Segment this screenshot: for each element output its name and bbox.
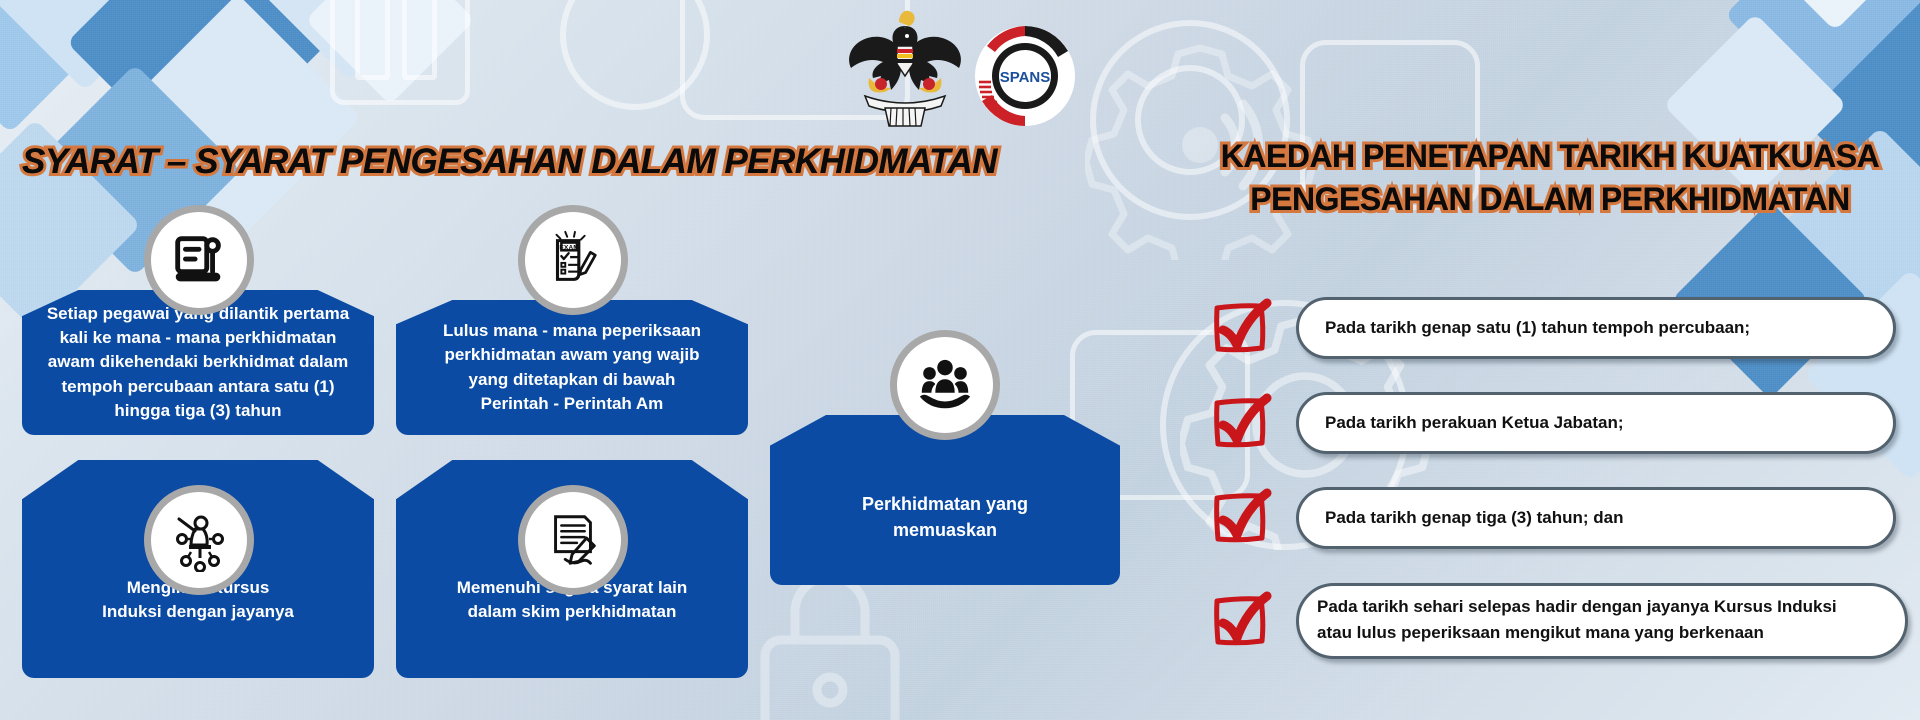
spans-logo-caption: SPANS (1000, 69, 1051, 86)
condition-1-line-2: kali ke mana - mana perkhidmatan (47, 326, 349, 350)
condition-2-line-3: yang ditetapkan di bawah (443, 368, 701, 392)
page-title-left: SYARAT – SYARAT PENGESAHAN DALAM PERKHID… (22, 140, 997, 184)
condition-card-2: Lulus mana - mana peperiksaan perkhidmat… (396, 300, 748, 435)
condition-5-line-2: memuaskan (862, 518, 1028, 544)
method-1-pill: Pada tarikh genap satu (1) tahun tempoh … (1296, 297, 1896, 359)
condition-2-line-4: Perintah - Perintah Am (443, 392, 701, 416)
sarawak-coat-of-arms (845, 6, 965, 131)
method-4-line-2: atau lulus peperiksaan mengikut mana yan… (1317, 620, 1887, 646)
method-4-line-1: Pada tarikh sehari selepas hadir dengan … (1317, 594, 1887, 620)
method-row-1: Pada tarikh genap satu (1) tahun tempoh … (1208, 296, 1898, 360)
condition-2-line-1: Lulus mana - mana peperiksaan (443, 319, 701, 343)
condition-1-line-5: hingga tiga (3) tahun (47, 399, 349, 423)
method-row-3: Pada tarikh genap tiga (3) tahun; dan (1208, 486, 1898, 550)
red-check-icon (1208, 589, 1272, 653)
decor-ghost-shape (402, 0, 437, 80)
method-2-checkbox[interactable] (1208, 391, 1272, 455)
condition-3-line-2: Induksi dengan jayanya (102, 600, 294, 624)
decor-diamond (1725, 0, 1920, 135)
red-check-icon (1208, 296, 1272, 360)
method-3-checkbox[interactable] (1208, 486, 1272, 550)
signed-document-icon (542, 509, 604, 571)
condition-2-line-2: perkhidmatan awam yang wajib (443, 343, 701, 367)
method-3-text: Pada tarikh genap tiga (3) tahun; dan (1325, 505, 1623, 531)
condition-1-icon-circle (144, 205, 254, 315)
training-course-icon (167, 508, 231, 572)
decor-ghost-shape (330, 0, 470, 105)
decor-diamond (114, 0, 361, 241)
exam-paper-icon: EXAM (542, 229, 604, 291)
condition-5-line-1: Perkhidmatan yang (862, 492, 1028, 518)
condition-2-icon-circle: EXAM (518, 205, 628, 315)
svg-text:EXAM: EXAM (559, 244, 579, 251)
method-2-pill: Pada tarikh perakuan Ketua Jabatan; (1296, 392, 1896, 454)
condition-4-line-2: dalam skim perkhidmatan (457, 600, 688, 624)
certificate-icon (168, 229, 230, 291)
page-title-right: KAEDAH PENETAPAN TARIKH KUATKUASA PENGES… (1220, 135, 1880, 221)
condition-1-line-4: tempoh percubaan antara satu (1) (47, 375, 349, 399)
method-4-pill: Pada tarikh sehari selepas hadir dengan … (1296, 583, 1908, 659)
red-check-icon (1208, 391, 1272, 455)
spans-logo: SPANS (973, 24, 1077, 128)
method-1-checkbox[interactable] (1208, 296, 1272, 360)
method-3-pill: Pada tarikh genap tiga (3) tahun; dan (1296, 487, 1896, 549)
decor-diamond (1729, 0, 1920, 31)
method-1-text: Pada tarikh genap satu (1) tahun tempoh … (1325, 315, 1750, 341)
decor-diamond (0, 0, 123, 133)
condition-4-icon-circle (518, 485, 628, 595)
red-check-icon (1208, 486, 1272, 550)
method-row-2: Pada tarikh perakuan Ketua Jabatan; (1208, 391, 1898, 455)
method-row-4: Pada tarikh sehari selepas hadir dengan … (1208, 583, 1908, 659)
logo-group: SPANS (845, 6, 1085, 131)
method-4-checkbox[interactable] (1208, 589, 1272, 653)
decor-ghost-shape (355, 0, 390, 80)
condition-5-icon-circle (890, 330, 1000, 440)
condition-1-line-3: awam dikehendaki berkhidmat dalam (47, 350, 349, 374)
condition-3-icon-circle (144, 485, 254, 595)
decor-diamond (0, 0, 191, 91)
decor-ghost-circle (560, 0, 710, 110)
decor-diamond (244, 0, 456, 81)
condition-card-5: Perkhidmatan yang memuaskan (770, 415, 1120, 585)
infographic-canvas: SPANS SYARAT – SYARAT PENGESAHAN DALAM P… (0, 0, 1920, 720)
people-care-icon (914, 355, 976, 415)
method-2-text: Pada tarikh perakuan Ketua Jabatan; (1325, 410, 1624, 436)
decor-diamond (305, 0, 475, 105)
